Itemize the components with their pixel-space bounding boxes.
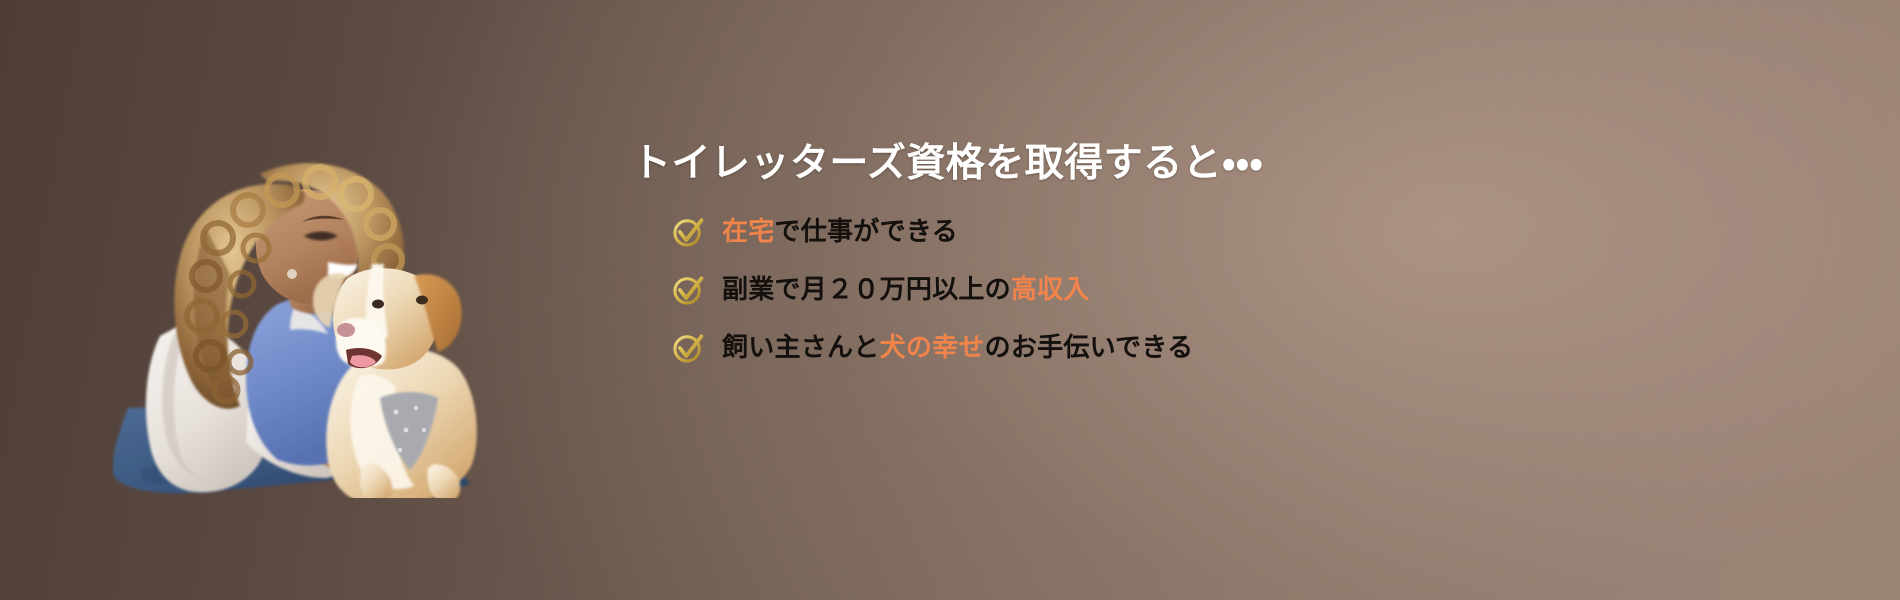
benefit-lead: 飼い主さんと: [722, 332, 880, 362]
benefit-highlight: 犬の幸せ: [880, 332, 985, 362]
check-circle-icon: [670, 330, 706, 366]
page-title: トイレッターズ資格を取得すると・・・: [632, 140, 1792, 188]
list-item-label: 在宅で仕事ができる: [722, 215, 958, 249]
check-circle-icon: [670, 272, 706, 308]
woman-with-puppy-photo: [10, 78, 530, 498]
hero-content: トイレッターズ資格を取得すると・・・ 在宅で仕事ができる: [632, 140, 1792, 366]
hero-banner: トイレッターズ資格を取得すると・・・ 在宅で仕事ができる: [0, 0, 1900, 600]
benefit-rest: のお手伝いできる: [985, 332, 1194, 362]
list-item: 在宅で仕事ができる: [632, 214, 1792, 250]
benefit-highlight: 在宅: [722, 216, 775, 246]
benefit-highlight: 高収入: [1011, 274, 1090, 304]
earring: [287, 269, 297, 279]
list-item: 飼い主さんと犬の幸せのお手伝いできる: [632, 330, 1792, 366]
list-item-label: 飼い主さんと犬の幸せのお手伝いできる: [722, 331, 1193, 365]
benefit-rest: で仕事ができる: [775, 216, 958, 246]
dog-nose: [337, 323, 355, 337]
check-circle-icon: [670, 214, 706, 250]
benefit-list: 在宅で仕事ができる 副業で月２０万円以上の高収入: [632, 214, 1792, 366]
benefit-lead: 副業で月２０万円以上の: [722, 274, 1011, 304]
list-item-label: 副業で月２０万円以上の高収入: [722, 273, 1090, 307]
list-item: 副業で月２０万円以上の高収入: [632, 272, 1792, 308]
